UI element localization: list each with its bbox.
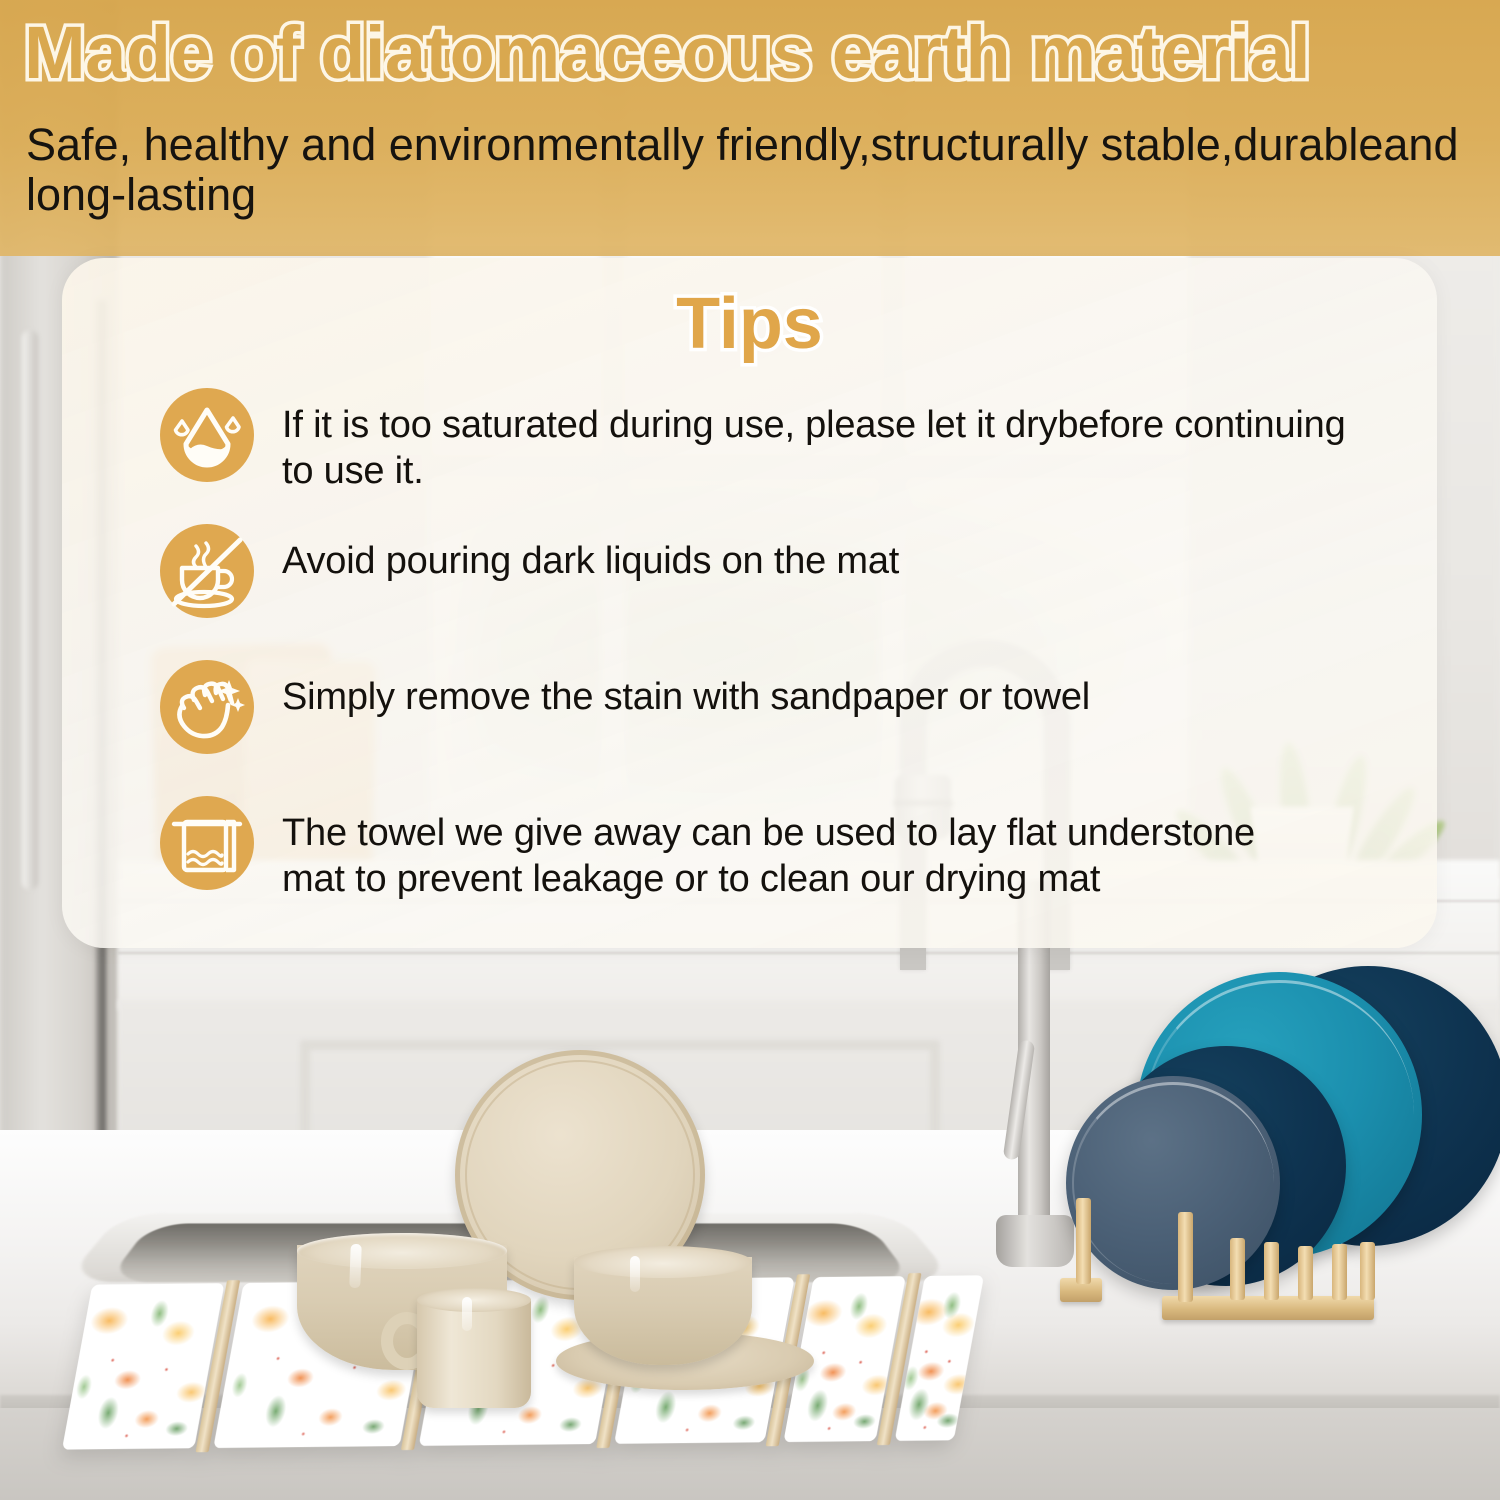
tip-item: The towel we give away can be used to la…: [160, 796, 1360, 906]
page-subtitle: Safe, healthy and environmentally friend…: [26, 120, 1474, 221]
tip-text: If it is too saturated during use, pleas…: [282, 388, 1360, 495]
stoneware-mug: [417, 1296, 531, 1408]
rack-peg: [1332, 1244, 1347, 1300]
tip-line: mat to prevent leakage or to clean our d…: [282, 856, 1255, 902]
tips-heading: Tips: [62, 288, 1437, 360]
stoneware-bowl-left-rim: [297, 1233, 507, 1269]
towel-icon: [160, 796, 254, 890]
tip-item: If it is too saturated during use, pleas…: [160, 388, 1360, 498]
tip-item: Simply remove the stain with sandpaper o…: [160, 660, 1360, 770]
tips-panel: Tips If it is too saturated during use, …: [62, 258, 1437, 948]
no-dark-liquid-cup-icon: [160, 524, 254, 618]
mug-highlight: [462, 1297, 472, 1331]
mug-rim: [417, 1288, 531, 1312]
tip-line: Simply remove the stain with sandpaper o…: [282, 676, 1090, 718]
tip-text: Simply remove the stain with sandpaper o…: [282, 660, 1090, 720]
bowl-left-highlight: [349, 1244, 362, 1288]
tip-text: Avoid pouring dark liquids on the mat: [282, 524, 899, 584]
tip-item: Avoid pouring dark liquids on the mat: [160, 524, 1360, 634]
rack-plate-slate: [1066, 1076, 1280, 1290]
water-drop-icon: [160, 388, 254, 482]
rack-peg: [1076, 1198, 1091, 1284]
rack-peg: [1178, 1212, 1193, 1302]
hand-wiping-icon: [160, 660, 254, 754]
rack-peg: [1230, 1238, 1245, 1300]
tip-line: If it is too saturated during use, pleas…: [282, 404, 1346, 492]
tip-line: Avoid pouring dark liquids on the mat: [282, 540, 899, 582]
bowl-right-highlight: [630, 1256, 640, 1292]
rack-peg: [1360, 1242, 1375, 1300]
rack-peg: [1298, 1246, 1313, 1300]
stoneware-bowl-right-rim: [574, 1246, 752, 1278]
refrigerator-handle: [22, 330, 38, 890]
bamboo-dish-rack: [1060, 960, 1490, 1400]
tips-list: If it is too saturated during use, pleas…: [160, 388, 1360, 906]
rack-peg: [1264, 1242, 1279, 1300]
header-band: Made of diatomaceous earth material Safe…: [0, 0, 1500, 256]
page-title: Made of diatomaceous earth material: [24, 16, 1480, 90]
tip-line: The towel we give away can be used to la…: [282, 810, 1255, 856]
product-marketing-image: Made of diatomaceous earth material Safe…: [0, 0, 1500, 1500]
tip-text: The towel we give away can be used to la…: [282, 796, 1255, 903]
